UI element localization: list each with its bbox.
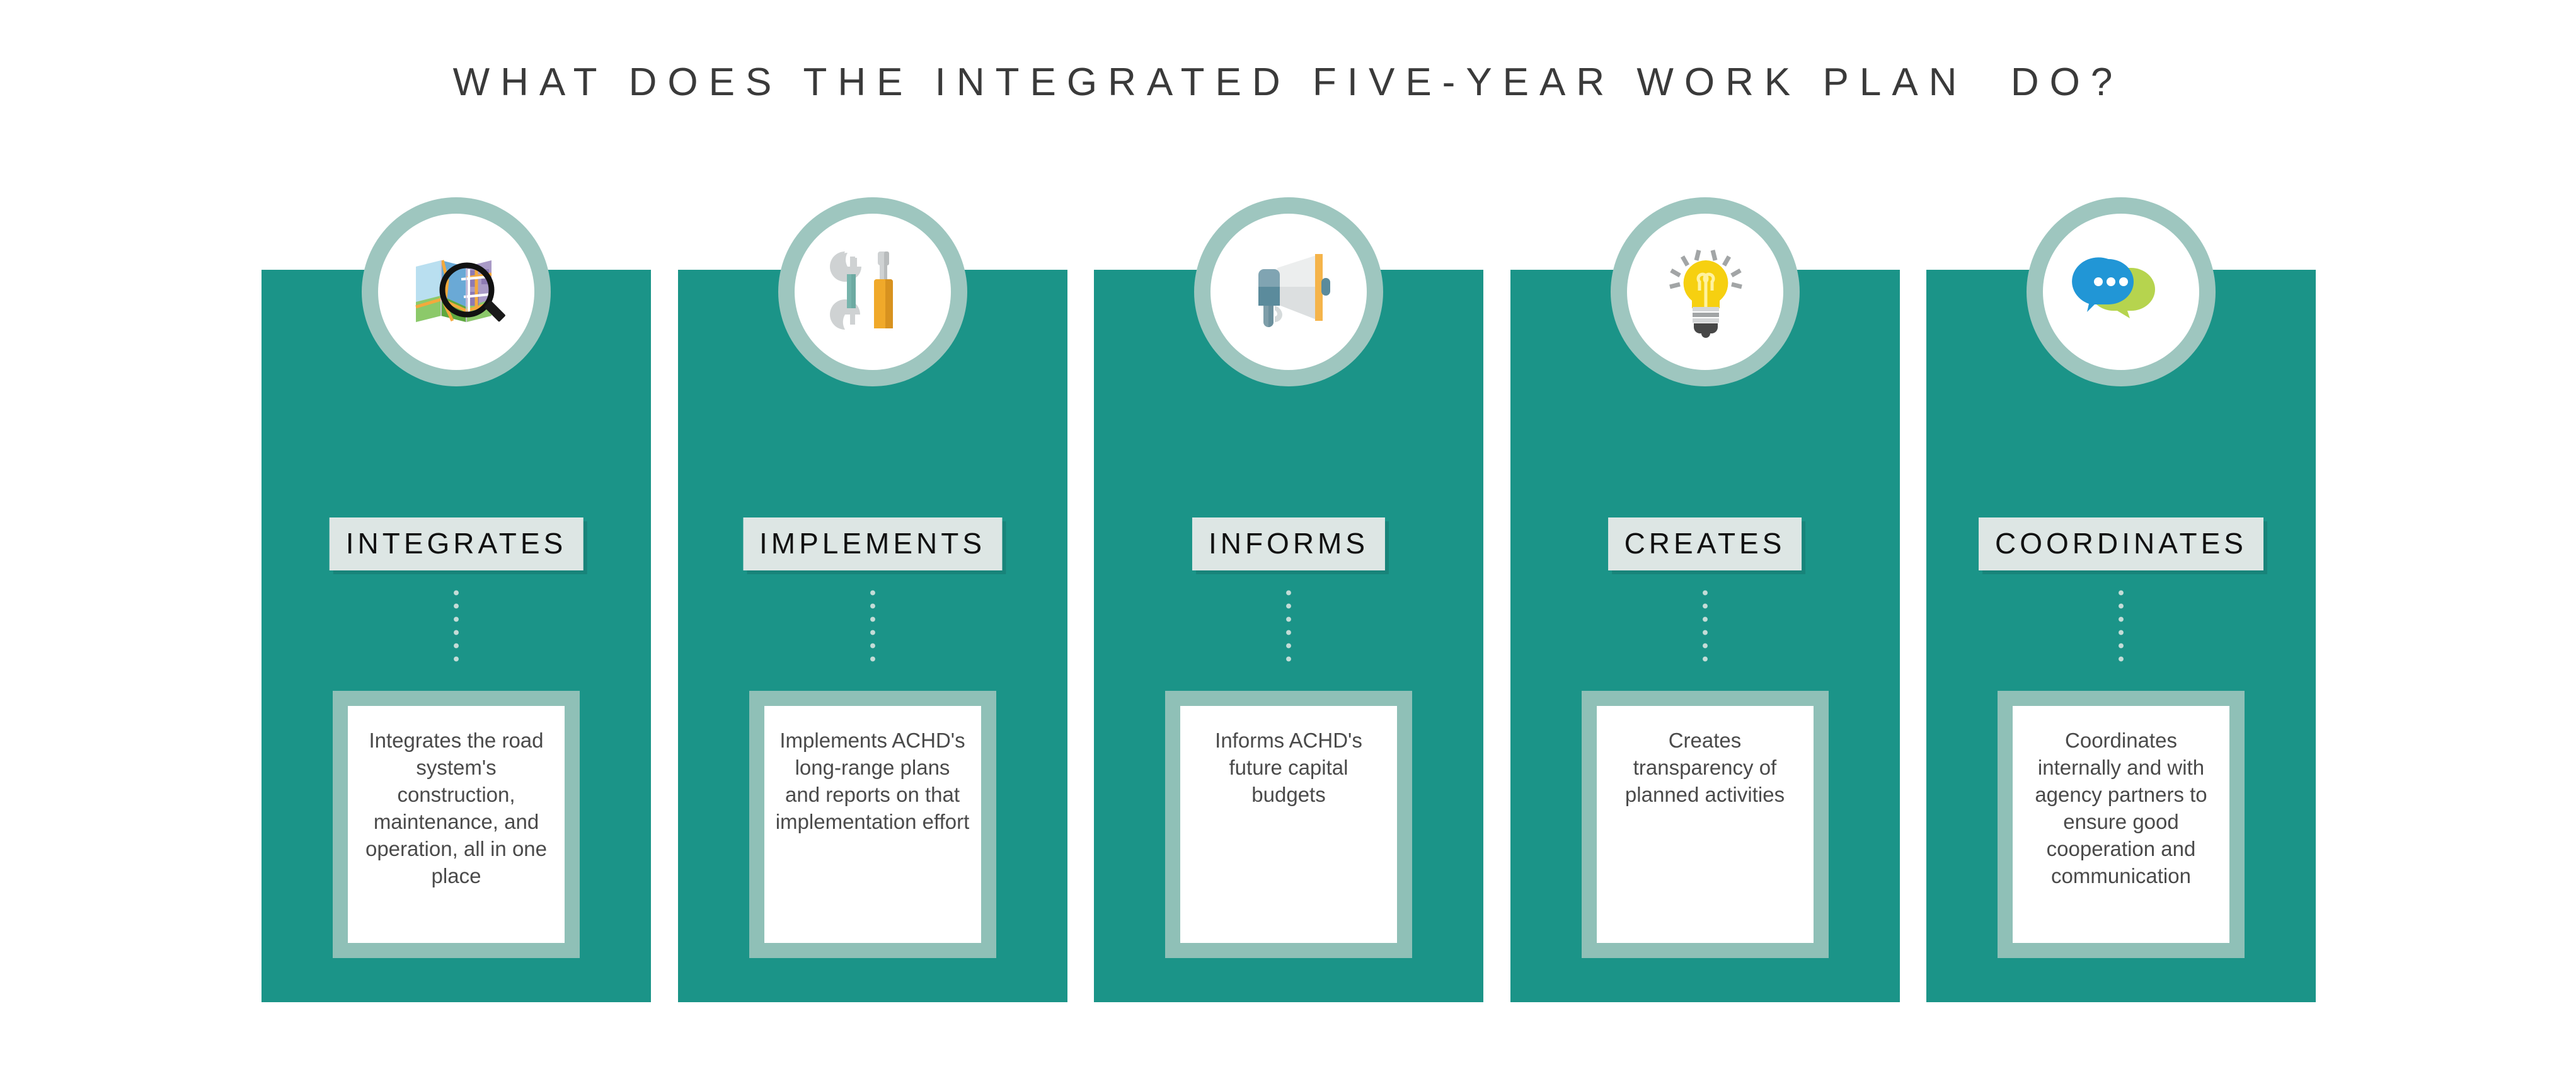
- body-card-inner: Implements ACHD's long-range plans and r…: [764, 706, 981, 943]
- label-band-coordinates: COORDINATES: [1979, 517, 2263, 570]
- column-implements: IMPLEMENTS Implements ACHD's long-range …: [678, 270, 1067, 1002]
- speech-bubbles-icon: [2071, 241, 2171, 342]
- body-card-integrates: Integrates the road system's constructio…: [333, 691, 580, 958]
- dotted-connector: [1285, 586, 1292, 668]
- medallion-inner: [1627, 214, 1783, 370]
- medallion-implements: [778, 197, 967, 386]
- medallion-creates: [1611, 197, 1800, 386]
- dotted-connector: [870, 586, 876, 668]
- column-label: COORDINATES: [1995, 526, 2247, 560]
- medallion-inner: [2043, 214, 2199, 370]
- column-label: INFORMS: [1209, 526, 1369, 560]
- body-card-inner: Creates transparency of planned activiti…: [1597, 706, 1814, 943]
- page-title: WHAT DOES THE INTEGRATED FIVE-YEAR WORK …: [0, 61, 2576, 105]
- dotted-connector: [1702, 586, 1708, 668]
- body-card-coordinates: Coordinates internally and with agency p…: [1998, 691, 2245, 958]
- column-body-text: Integrates the road system's constructio…: [359, 727, 553, 889]
- column-body-text: Informs ACHD's future capital budgets: [1192, 727, 1386, 808]
- medallion-inner: [1210, 214, 1367, 370]
- wrench-screwdriver-icon: [822, 241, 923, 342]
- column-label: CREATES: [1624, 526, 1786, 560]
- body-card-inner: Coordinates internally and with agency p…: [2013, 706, 2229, 943]
- body-card-implements: Implements ACHD's long-range plans and r…: [749, 691, 996, 958]
- column-body-text: Creates transparency of planned activiti…: [1608, 727, 1802, 808]
- body-card-creates: Creates transparency of planned activiti…: [1582, 691, 1829, 958]
- column-label: IMPLEMENTS: [759, 526, 986, 560]
- label-band-informs: INFORMS: [1192, 517, 1385, 570]
- column-body-text: Implements ACHD's long-range plans and r…: [776, 727, 970, 835]
- label-band-creates: CREATES: [1608, 517, 1802, 570]
- map-magnifier-icon: [406, 241, 507, 342]
- label-band-implements: IMPLEMENTS: [743, 517, 1002, 570]
- body-card-inner: Informs ACHD's future capital budgets: [1180, 706, 1397, 943]
- medallion-informs: [1194, 197, 1383, 386]
- medallion-inner: [378, 214, 534, 370]
- column-informs: INFORMS Informs ACHD's future capital bu…: [1094, 270, 1483, 1002]
- dotted-connector: [2118, 586, 2124, 668]
- column-label: INTEGRATES: [346, 526, 567, 560]
- columns-row: INTEGRATES Integrates the road system's …: [262, 270, 2316, 1002]
- column-coordinates: COORDINATES Coordinates internally and w…: [1926, 270, 2316, 1002]
- medallion-inner: [795, 214, 951, 370]
- column-integrates: INTEGRATES Integrates the road system's …: [262, 270, 651, 1002]
- label-band-integrates: INTEGRATES: [330, 517, 584, 570]
- column-creates: CREATES Creates transparency of planned …: [1510, 270, 1900, 1002]
- dotted-connector: [453, 586, 459, 668]
- column-body-text: Coordinates internally and with agency p…: [2024, 727, 2218, 889]
- medallion-integrates: [362, 197, 551, 386]
- body-card-informs: Informs ACHD's future capital budgets: [1165, 691, 1412, 958]
- medallion-coordinates: [2027, 197, 2216, 386]
- megaphone-icon: [1238, 241, 1339, 342]
- lightbulb-icon: [1655, 241, 1756, 342]
- body-card-inner: Integrates the road system's constructio…: [348, 706, 565, 943]
